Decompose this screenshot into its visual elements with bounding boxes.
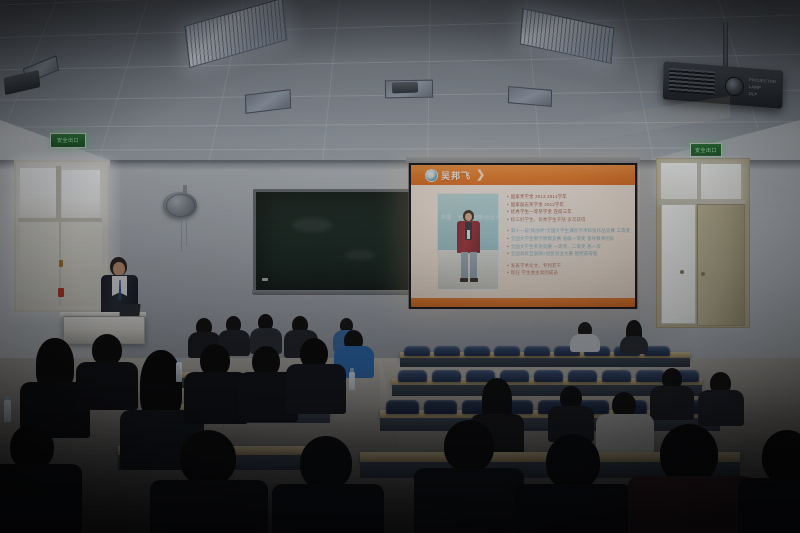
seat[interactable] bbox=[434, 346, 460, 356]
bullet-text: 第十一届“挑战杯”全国大学生课外学术科技作品竞赛 三等奖 bbox=[511, 228, 631, 234]
list-item: ▪ 全国大学生英语竞赛 一等奖、二等奖 各一次 bbox=[507, 244, 629, 250]
podium-laptop bbox=[119, 304, 140, 316]
ceiling-light-fixture bbox=[508, 86, 552, 107]
ceiling-light-fixture bbox=[245, 89, 291, 114]
door-transom-right bbox=[701, 164, 741, 199]
door-leaf-closed[interactable] bbox=[697, 204, 745, 326]
bullet-dot-icon: ▪ bbox=[507, 217, 509, 223]
chevron-right-icon: ❯ bbox=[476, 170, 485, 181]
bullet-text: 国家励志奖学金 2012学年 bbox=[511, 202, 564, 208]
slide-bullet-list: ▪ 国家奖学金 2013 2014学年 ▪ 国家励志奖学金 2012学年 ▪ 优… bbox=[507, 194, 629, 278]
bullet-dot-icon: ▪ bbox=[507, 209, 509, 215]
presentation-slide: 吴邦飞 ❯ 中国 · 大学生创新创业大赛 bbox=[411, 165, 635, 307]
bullet-dot-icon: ▪ bbox=[507, 263, 509, 269]
seat[interactable] bbox=[464, 346, 490, 356]
ceiling-speaker bbox=[392, 82, 418, 94]
window-pane-upper-right bbox=[62, 170, 100, 217]
ceiling-light-fixture bbox=[520, 8, 614, 64]
bullet-dot-icon: ▪ bbox=[507, 236, 509, 242]
exit-sign-left: 安全出口 bbox=[50, 133, 86, 148]
exit-sign-right-text: 安全出口 bbox=[695, 147, 717, 154]
seat[interactable] bbox=[494, 346, 520, 356]
list-item: ▪ 校三好学生、优秀学生干部 多次获得 bbox=[507, 217, 629, 223]
bullet-dot-icon: ▪ bbox=[507, 194, 509, 200]
projector-label-bottom: DLP bbox=[749, 91, 758, 97]
list-item: ▪ 现任 学生会主席团成员 bbox=[507, 270, 629, 276]
seat[interactable] bbox=[636, 370, 665, 382]
list-item: ▪ 优秀学生一等奖学金 连续三年 bbox=[507, 209, 629, 215]
bullet-text: 发表学术论文、专利若干 bbox=[511, 263, 562, 269]
seat[interactable] bbox=[568, 370, 597, 382]
list-item: ▪ 国家励志奖学金 2012学年 bbox=[507, 202, 629, 208]
desk-row-front bbox=[400, 358, 690, 367]
list-item: ▪ 全国高校互联网+创新创业大赛 银奖获得者 bbox=[507, 251, 629, 257]
bullet-dot-icon: ▪ bbox=[507, 244, 509, 250]
bullet-text: 全国大学生英语竞赛 一等奖、二等奖 各一次 bbox=[511, 244, 601, 250]
slide-photo: 中国 · 大学生创新创业大赛 bbox=[437, 193, 499, 290]
seat[interactable] bbox=[602, 370, 631, 382]
organization-logo-icon bbox=[425, 169, 438, 182]
bullet-text: 国家奖学金 2013 2014学年 bbox=[511, 194, 567, 200]
bullet-dot-icon: ▪ bbox=[507, 251, 509, 257]
projector-label-mid: LAMP bbox=[749, 84, 761, 90]
bullet-text: 现任 学生会主席团成员 bbox=[511, 270, 558, 276]
bullet-dot-icon: ▪ bbox=[507, 202, 509, 208]
bullet-text: 全国大学生数学建模竞赛 省级一等奖 指导教师团队 bbox=[511, 236, 615, 242]
exit-sign-right: 安全出口 bbox=[690, 143, 722, 157]
seat[interactable] bbox=[534, 370, 563, 382]
exit-sign-left-text: 安全出口 bbox=[57, 137, 79, 144]
seat[interactable] bbox=[386, 400, 419, 414]
list-item: ▪ 国家奖学金 2013 2014学年 bbox=[507, 194, 629, 200]
seat[interactable] bbox=[404, 346, 430, 356]
seat[interactable] bbox=[524, 346, 550, 356]
bullet-text: 校三好学生、优秀学生干部 多次获得 bbox=[511, 217, 586, 223]
bullet-text: 优秀学生一等奖学金 连续三年 bbox=[511, 209, 572, 215]
window-pane-upper-left bbox=[20, 168, 56, 216]
seat[interactable] bbox=[432, 370, 461, 382]
list-item: ▪ 全国大学生数学建模竞赛 省级一等奖 指导教师团队 bbox=[507, 236, 629, 242]
seat[interactable] bbox=[424, 400, 457, 414]
lecture-hall-photo: PROJECTOR LAMP DLP 安全出口 安全出口 bbox=[0, 0, 800, 533]
door-leaf-open[interactable] bbox=[661, 204, 696, 324]
seat[interactable] bbox=[398, 370, 427, 382]
list-item: ▪ 发表学术论文、专利若干 bbox=[507, 263, 629, 269]
ceiling-speaker bbox=[4, 70, 41, 95]
slide-title: 吴邦飞 bbox=[441, 169, 471, 182]
bullet-dot-icon: ▪ bbox=[507, 270, 509, 276]
door-transom-left bbox=[661, 163, 697, 199]
bullet-text: 全国高校互联网+创新创业大赛 银奖获得者 bbox=[511, 251, 598, 257]
bullet-dot-icon: ▪ bbox=[507, 228, 509, 234]
ceiling-light-fixture bbox=[184, 0, 287, 68]
list-item: ▪ 第十一届“挑战杯”全国大学生课外学术科技作品竞赛 三等奖 bbox=[507, 228, 629, 234]
